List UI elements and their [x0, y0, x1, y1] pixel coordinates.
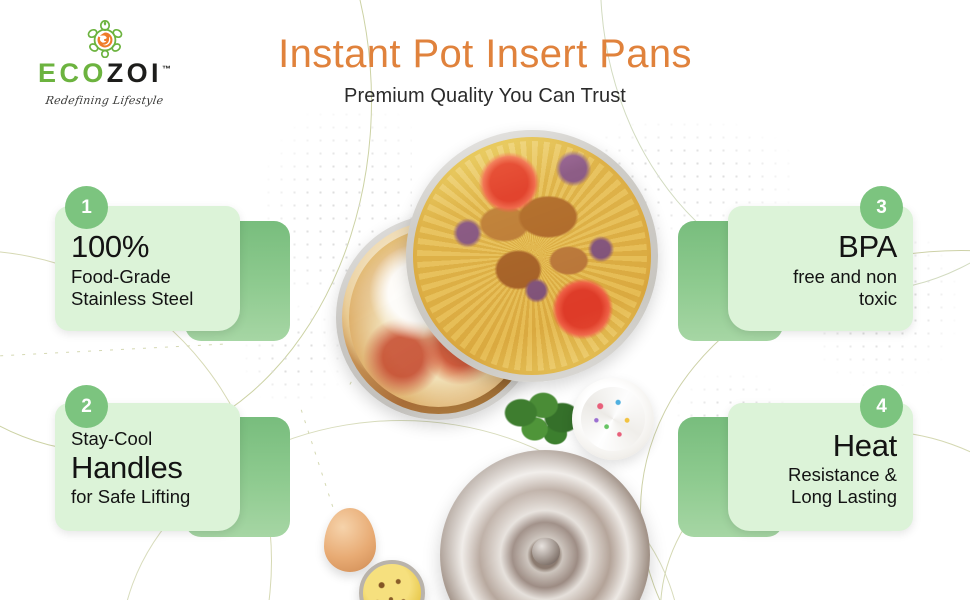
- feature-line-secondary: Food-Grade: [71, 266, 224, 288]
- decorative-dotted-line: [0, 342, 226, 358]
- page-subtitle: Premium Quality You Can Trust: [0, 85, 970, 108]
- feature-line-secondary: Handles: [71, 450, 224, 487]
- feature-line-tertiary: Long Lasting: [744, 486, 897, 508]
- feature-card-2[interactable]: Stay-Cool Handles for Safe Lifting 2: [55, 385, 290, 545]
- feature-card-3[interactable]: BPA free and non toxic 3: [678, 186, 913, 341]
- feature-line-primary: Heat: [744, 428, 897, 465]
- feature-line-secondary: free and non: [744, 266, 897, 288]
- feature-line-primary: Stay-Cool: [71, 428, 224, 450]
- feature-card-1[interactable]: 100% Food-Grade Stainless Steel 1: [55, 186, 290, 341]
- feature-line-secondary: Resistance &: [744, 464, 897, 486]
- feature-number-badge: 3: [860, 186, 903, 229]
- feature-line-tertiary: Stainless Steel: [71, 288, 224, 310]
- upper-insert-pan-with-biryani: [406, 130, 658, 382]
- feature-line-primary: 100%: [71, 229, 224, 266]
- brown-egg: [324, 508, 376, 572]
- page-title: Instant Pot Insert Pans: [0, 32, 970, 77]
- feature-number-badge: 4: [860, 385, 903, 428]
- feature-line-tertiary: for Safe Lifting: [71, 486, 224, 508]
- steel-pan-lid: [440, 450, 650, 600]
- infographic-canvas: ECOZOI™ Redefining Lifestyle Instant Pot…: [0, 0, 970, 600]
- product-photo: [300, 120, 690, 600]
- feature-line-primary: BPA: [744, 229, 897, 266]
- feature-number-badge: 2: [65, 385, 108, 428]
- feature-card-4[interactable]: Heat Resistance & Long Lasting 4: [678, 385, 913, 545]
- cream-bowl-with-sprinkles: [572, 378, 654, 460]
- feature-number-badge: 1: [65, 186, 108, 229]
- feature-line-tertiary: toxic: [744, 288, 897, 310]
- egg-bite-bowl: [359, 560, 425, 600]
